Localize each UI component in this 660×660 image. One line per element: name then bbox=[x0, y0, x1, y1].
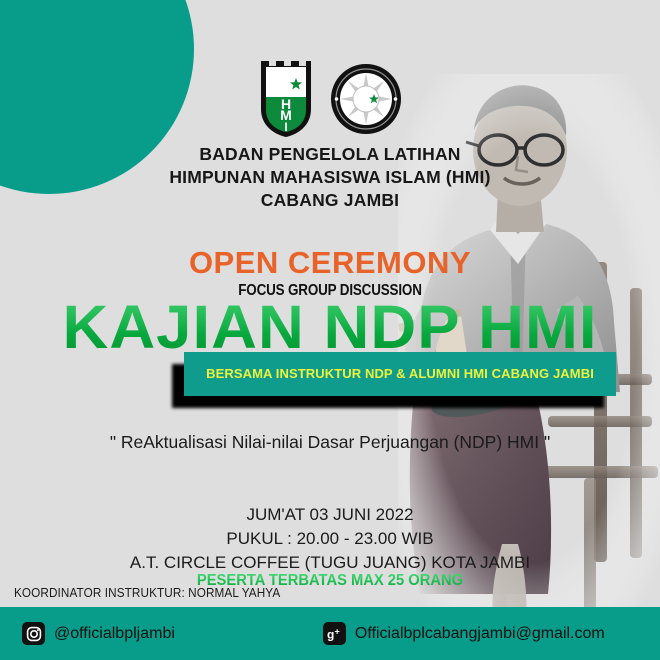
banner-text: BERSAMA INSTRUKTUR NDP & ALUMNI HMI CABA… bbox=[206, 366, 594, 382]
org-line-1: BADAN PENGELOLA LATIHAN bbox=[0, 143, 660, 166]
banner-body: BERSAMA INSTRUKTUR NDP & ALUMNI HMI CABA… bbox=[184, 352, 616, 396]
hmi-shield-logo-icon: H M I bbox=[258, 58, 314, 140]
instagram-handle[interactable]: @officialbpljambi bbox=[54, 625, 175, 643]
poster-canvas: H M I BADAN PENG bbox=[0, 0, 660, 660]
contact-footer: @officialbpljambi g + Officialbplcabangj… bbox=[0, 607, 660, 660]
google-plus-contact[interactable]: g + Officialbplcabangjambi@gmail.com bbox=[323, 622, 605, 645]
event-time: PUKUL : 20.00 - 23.00 WIB bbox=[0, 527, 660, 551]
page-title: KAJIAN NDP HMI bbox=[0, 296, 660, 358]
svg-text:g: g bbox=[327, 627, 334, 641]
coordinator-note: KOORDINATOR INSTRUKTUR: NORMAL YAHYA bbox=[14, 586, 280, 600]
organization-name-block: BADAN PENGELOLA LATIHAN HIMPUNAN MAHASIS… bbox=[0, 143, 660, 212]
org-line-3: CABANG JAMBI bbox=[0, 189, 660, 212]
org-line-2: HIMPUNAN MAHASISWA ISLAM (HMI) bbox=[0, 166, 660, 189]
logo-group: H M I bbox=[0, 58, 660, 140]
event-details-block: JUM'AT 03 JUNI 2022 PUKUL : 20.00 - 23.0… bbox=[0, 503, 660, 575]
instagram-contact[interactable]: @officialbpljambi bbox=[22, 622, 175, 645]
event-theme-quote: " ReAktualisasi Nilai-nilai Dasar Perjua… bbox=[0, 432, 660, 453]
svg-text:I: I bbox=[284, 120, 287, 134]
svg-text:+: + bbox=[335, 626, 340, 636]
email-address[interactable]: Officialbplcabangjambi@gmail.com bbox=[355, 625, 605, 643]
google-plus-icon[interactable]: g + bbox=[323, 622, 346, 645]
speakers-banner: BERSAMA INSTRUKTUR NDP & ALUMNI HMI CABA… bbox=[184, 352, 616, 396]
bpl-hmi-circle-logo-icon bbox=[330, 63, 402, 135]
event-date: JUM'AT 03 JUNI 2022 bbox=[0, 503, 660, 527]
open-ceremony-label: OPEN CEREMONY bbox=[0, 245, 660, 281]
instagram-icon[interactable] bbox=[22, 622, 45, 645]
